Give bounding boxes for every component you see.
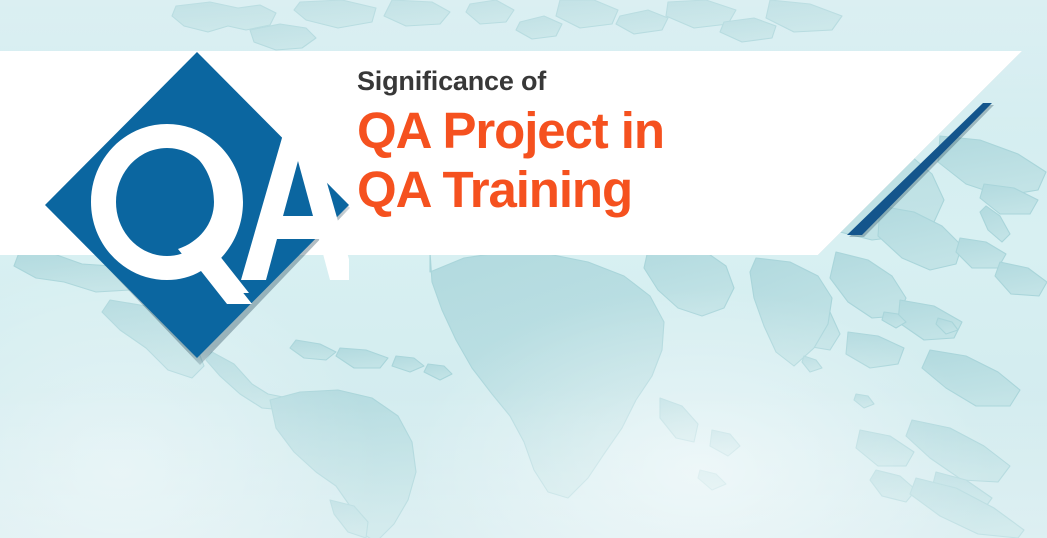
qa-logo-icon <box>45 52 349 358</box>
headline-line-1: QA Project in <box>357 101 917 160</box>
headline-text-block: Significance of QA Project in QA Trainin… <box>357 64 917 219</box>
headline-eyebrow: Significance of <box>357 64 917 98</box>
headline-line-2: QA Training <box>357 160 917 219</box>
banner-graphic: Significance of QA Project in QA Trainin… <box>0 0 1047 538</box>
